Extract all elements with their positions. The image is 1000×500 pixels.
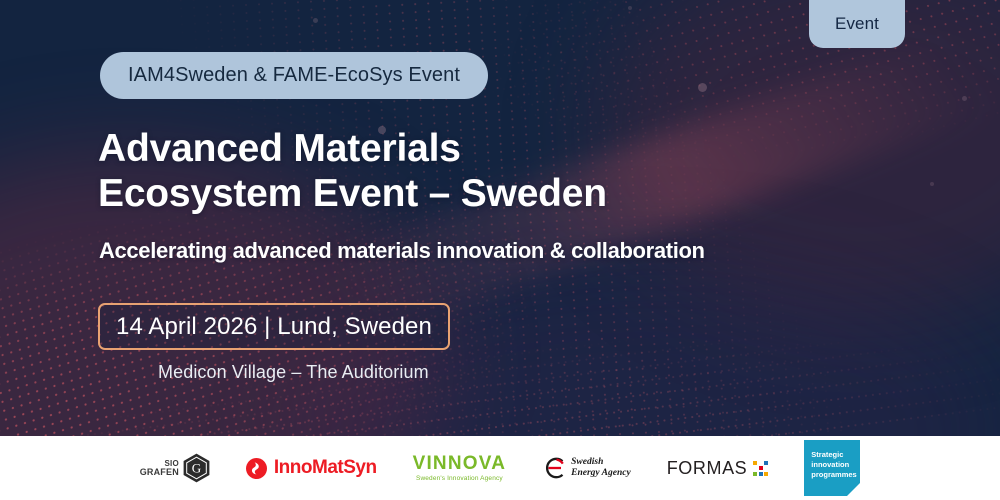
bokeh-dot-5 [930,182,934,186]
sip-corner-notch [847,483,860,496]
sio-grafen-wordmark: SIO GRAFEN [140,459,179,477]
energy-agency-line-2: Energy Agency [571,468,631,479]
formas-wordmark: FORMAS [667,458,748,479]
event-tag-label: Event [835,14,879,34]
sip-line-3: programmes [811,470,860,480]
bokeh-dot-4 [962,96,967,101]
bokeh-dot-6 [628,6,632,10]
bokeh-dot-1 [698,83,707,92]
event-series-badge-label: IAM4Sweden & FAME-EcoSys Event [128,64,460,87]
page-title-line-1: Advanced Materials [98,126,607,171]
logo-sio-grafen: SIO GRAFEN G [140,453,210,483]
event-series-badge: IAM4Sweden & FAME-EcoSys Event [100,52,488,99]
innomatsyn-mark-icon [246,458,267,479]
logo-swedish-energy-agency: Swedish Energy Agency [542,456,631,480]
logo-formas: FORMAS [667,458,769,479]
sio-grafen-line-2: GRAFEN [140,468,179,477]
formas-dot-grid-icon [753,461,768,476]
sip-line-1: Strategic [811,450,860,460]
page-title-line-2: Ecosystem Event – Sweden [98,171,607,216]
logo-vinnova: VINNOVA Sweden's Innovation Agency [413,454,507,482]
logo-strategic-innovation-programmes: Strategic innovation programmes [804,440,860,496]
vinnova-wordmark: VINNOVA [413,454,507,474]
sip-wordmark: Strategic innovation programmes [804,440,860,480]
innomatsyn-wordmark: InnoMatSyn [274,457,377,479]
energy-agency-mark-icon [542,456,566,480]
date-location-label: 14 April 2026 | Lund, Sweden [116,313,432,341]
page-subtitle: Accelerating advanced materials innovati… [99,238,705,264]
event-tag: Event [809,0,905,48]
energy-agency-wordmark: Swedish Energy Agency [571,457,631,479]
date-location-box: 14 April 2026 | Lund, Sweden [98,303,450,350]
energy-agency-line-1: Swedish [571,457,631,468]
vinnova-tagline: Sweden's Innovation Agency [416,475,503,482]
logo-innomatsyn: InnoMatSyn [246,457,377,479]
svg-text:G: G [192,461,201,476]
sponsor-logo-bar: SIO GRAFEN G InnoMatSyn [0,436,1000,500]
sip-line-2: innovation [811,460,860,470]
page-title: Advanced Materials Ecosystem Event – Swe… [98,126,607,216]
event-banner: Event IAM4Sweden & FAME-EcoSys Event Adv… [0,0,1000,500]
bokeh-dot-3 [313,18,318,23]
venue-label: Medicon Village – The Auditorium [158,362,429,383]
hexagon-icon: G [183,453,210,483]
